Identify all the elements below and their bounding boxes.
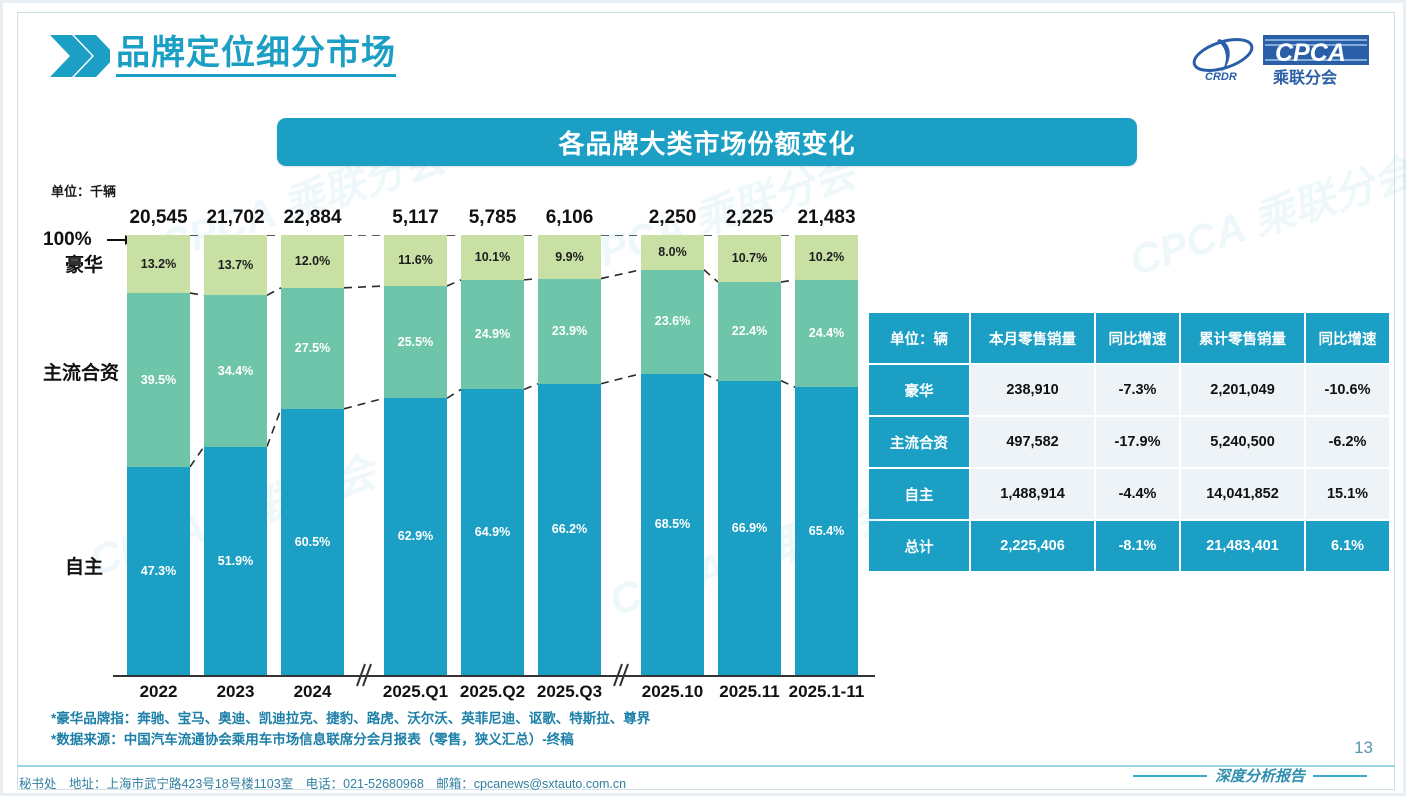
segment-value-label: 68.5%: [655, 518, 690, 531]
bar-segment-豪华: 13.7%: [204, 235, 267, 295]
bar-2025.10: 8.0%23.6%68.5%: [641, 235, 704, 675]
segment-value-label: 25.5%: [398, 336, 433, 349]
axis-break-icon: [354, 660, 370, 690]
table-header-month-yoy: 同比增速: [1096, 313, 1179, 363]
table-row: 主流合资497,582-17.9%5,240,500-6.2%: [869, 417, 1389, 467]
svg-text:CPCA: CPCA: [1275, 39, 1346, 67]
cell-month-yoy: -17.9%: [1096, 417, 1179, 467]
chart-footnotes: *豪华品牌指：奔驰、宝马、奥迪、凯迪拉克、捷豹、路虎、沃尔沃、英菲尼迪、讴歌、特…: [51, 709, 650, 751]
segment-value-label: 10.7%: [732, 252, 767, 265]
table-row-label: 主流合资: [869, 417, 969, 467]
cell-cum-sales: 5,240,500: [1181, 417, 1304, 467]
table-header-month: 本月零售销量: [971, 313, 1094, 363]
bar-2024: 12.0%27.5%60.5%: [281, 235, 344, 675]
cell-cum-sales: 14,041,852: [1181, 469, 1304, 519]
segment-value-label: 22.4%: [732, 325, 767, 338]
bar-segment-主流合资: 25.5%: [384, 286, 447, 398]
bar-2025.1-11: 10.2%24.4%65.4%: [795, 235, 858, 675]
report-rule-left: [1133, 775, 1207, 777]
segment-value-label: 60.5%: [295, 536, 330, 549]
cell-month-sales: 238,910: [971, 365, 1094, 415]
bar-segment-自主: 60.5%: [281, 409, 344, 675]
bar-segment-主流合资: 24.4%: [795, 280, 858, 387]
segment-value-label: 51.9%: [218, 555, 253, 568]
bar-2022: 13.2%39.5%47.3%: [127, 235, 190, 675]
bar-segment-主流合资: 23.9%: [538, 279, 601, 384]
segment-value-label: 13.7%: [218, 259, 253, 272]
footnote-luxury-brands: *豪华品牌指：奔驰、宝马、奥迪、凯迪拉克、捷豹、路虎、沃尔沃、英菲尼迪、讴歌、特…: [51, 709, 650, 730]
bar-segment-豪华: 12.0%: [281, 235, 344, 288]
slide: CPCA 乘联分会 CPCA 乘联分会 CPCA 乘联分会 CPCA 乘联分会 …: [0, 0, 1406, 796]
bar-segment-主流合资: 24.9%: [461, 280, 524, 390]
segment-value-label: 24.9%: [475, 328, 510, 341]
total-cum-yoy: 6.1%: [1306, 521, 1389, 571]
bar-segment-主流合资: 39.5%: [127, 293, 190, 467]
segment-value-label: 23.6%: [655, 315, 690, 328]
axis-max-label: 100%: [43, 229, 92, 251]
category-label-luxury: 豪华: [65, 250, 103, 277]
total-value-2024: 22,884: [257, 207, 368, 229]
bar-segment-豪华: 11.6%: [384, 235, 447, 286]
bar-segment-主流合资: 27.5%: [281, 288, 344, 409]
x-axis-label-2025.1-11: 2025.1-11: [773, 682, 880, 702]
bar-segment-自主: 64.9%: [461, 389, 524, 675]
report-tag: 深度分析报告: [1133, 765, 1367, 786]
table-row: 豪华238,910-7.3%2,201,049-10.6%: [869, 365, 1389, 415]
bar-segment-豪华: 10.7%: [718, 235, 781, 282]
bar-segment-自主: 66.9%: [718, 381, 781, 675]
total-month-yoy: -8.1%: [1096, 521, 1179, 571]
footer-contact: 秘书处 地址：上海市武宁路423号18号楼1103室 电话：021-526809…: [19, 773, 626, 792]
segment-value-label: 62.9%: [398, 530, 433, 543]
table-row-label: 自主: [869, 469, 969, 519]
cell-month-sales: 1,488,914: [971, 469, 1094, 519]
segment-value-label: 24.4%: [809, 327, 844, 340]
bar-2025.Q1: 11.6%25.5%62.9%: [384, 235, 447, 675]
segment-value-label: 11.6%: [398, 254, 433, 267]
bar-2025.Q3: 9.9%23.9%66.2%: [538, 235, 601, 675]
bar-segment-主流合资: 22.4%: [718, 282, 781, 381]
total-value-2025.1-11: 21,483: [771, 207, 882, 229]
segment-value-label: 66.2%: [552, 523, 587, 536]
segment-value-label: 10.2%: [809, 251, 844, 264]
total-value-2025.Q3: 6,106: [514, 207, 625, 229]
segment-value-label: 47.3%: [141, 565, 176, 578]
segment-value-label: 9.9%: [555, 251, 584, 264]
total-month-sales: 2,225,406: [971, 521, 1094, 571]
segment-value-label: 65.4%: [809, 525, 844, 538]
cell-month-sales: 497,582: [971, 417, 1094, 467]
segment-value-label: 27.5%: [295, 342, 330, 355]
cell-cum-yoy: 15.1%: [1306, 469, 1389, 519]
bar-segment-主流合资: 23.6%: [641, 270, 704, 374]
segment-value-label: 34.4%: [218, 365, 253, 378]
table-body: 豪华238,910-7.3%2,201,049-10.6%主流合资497,582…: [869, 365, 1389, 571]
segment-value-label: 8.0%: [658, 246, 687, 259]
bar-segment-自主: 51.9%: [204, 447, 267, 675]
segment-value-label: 12.0%: [295, 255, 330, 268]
watermark: CPCA 乘联分会: [1121, 139, 1406, 289]
segment-value-label: 39.5%: [141, 374, 176, 387]
x-axis-label-2025.Q3: 2025.Q3: [516, 682, 623, 702]
category-label-domestic: 自主: [65, 552, 103, 579]
table-header-unit: 单位：辆: [869, 313, 969, 363]
bar-segment-自主: 66.2%: [538, 384, 601, 675]
stacked-bar-chart: 100% 豪华 主流合资 自主 13.2%39.5%47.3%13.7%34.4…: [3, 3, 883, 723]
svg-text:乘联分会: 乘联分会: [1272, 68, 1337, 87]
bar-segment-豪华: 9.9%: [538, 235, 601, 279]
report-rule-right: [1313, 775, 1367, 777]
bar-2025.Q2: 10.1%24.9%64.9%: [461, 235, 524, 675]
cell-month-yoy: -7.3%: [1096, 365, 1179, 415]
total-cum-sales: 21,483,401: [1181, 521, 1304, 571]
table-header-cum: 累计零售销量: [1181, 313, 1304, 363]
bar-segment-豪华: 8.0%: [641, 235, 704, 270]
segment-value-label: 23.9%: [552, 325, 587, 338]
cell-cum-sales: 2,201,049: [1181, 365, 1304, 415]
bar-segment-豪华: 10.2%: [795, 235, 858, 280]
bar-segment-自主: 65.4%: [795, 387, 858, 675]
cell-month-yoy: -4.4%: [1096, 469, 1179, 519]
cell-cum-yoy: -6.2%: [1306, 417, 1389, 467]
segment-value-label: 10.1%: [475, 251, 510, 264]
total-row-label: 总计: [869, 521, 969, 571]
cell-cum-yoy: -10.6%: [1306, 365, 1389, 415]
chart-x-axis: [113, 675, 875, 677]
table-header-row: 单位：辆 本月零售销量 同比增速 累计零售销量 同比增速: [869, 313, 1389, 363]
bar-segment-自主: 62.9%: [384, 398, 447, 675]
table-header-cum-yoy: 同比增速: [1306, 313, 1389, 363]
table-total-row: 总计2,225,406-8.1%21,483,4016.1%: [869, 521, 1389, 571]
table-row-label: 豪华: [869, 365, 969, 415]
footnote-data-source: *数据来源：中国汽车流通协会乘用车市场信息联席分会月报表（零售，狭义汇总）-终稿: [51, 730, 650, 751]
bar-segment-自主: 68.5%: [641, 374, 704, 675]
chart-plot-area: 13.2%39.5%47.3%13.7%34.4%51.9%12.0%27.5%…: [121, 235, 866, 675]
x-axis-label-2024: 2024: [259, 682, 366, 702]
bar-segment-主流合资: 34.4%: [204, 295, 267, 446]
segment-value-label: 64.9%: [475, 526, 510, 539]
bar-2025.11: 10.7%22.4%66.9%: [718, 235, 781, 675]
axis-break-icon: [611, 660, 627, 690]
summary-table: 单位：辆 本月零售销量 同比增速 累计零售销量 同比增速 豪华238,910-7…: [867, 311, 1391, 573]
bar-segment-豪华: 13.2%: [127, 235, 190, 293]
report-label: 深度分析报告: [1207, 765, 1313, 786]
segment-value-label: 13.2%: [141, 258, 176, 271]
category-label-joint: 主流合资: [43, 358, 119, 385]
table-row: 自主1,488,914-4.4%14,041,85215.1%: [869, 469, 1389, 519]
page-number: 13: [1354, 738, 1373, 758]
bar-segment-自主: 47.3%: [127, 467, 190, 675]
bar-2023: 13.7%34.4%51.9%: [204, 235, 267, 675]
bar-segment-豪华: 10.1%: [461, 235, 524, 279]
segment-value-label: 66.9%: [732, 522, 767, 535]
cpca-logo-icon: CRDR CPCA 乘联分会: [1189, 31, 1371, 89]
svg-text:CRDR: CRDR: [1205, 71, 1237, 83]
